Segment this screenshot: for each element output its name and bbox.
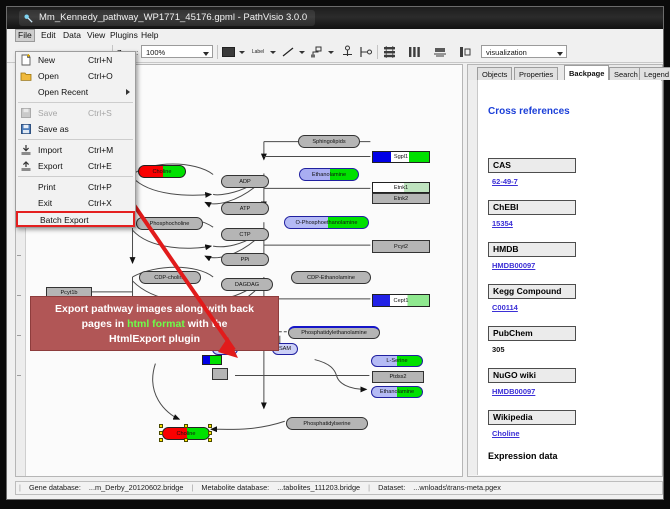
gene-ptdss2[interactable]: Ptdss2 [372,371,424,383]
export-icon [20,160,32,172]
chevron-down-icon[interactable] [270,51,276,54]
menu-item-print-label: Print [38,182,55,192]
file-menu-dropdown[interactable]: New Ctrl+N Open Ctrl+O Open Recent Save … [15,51,136,228]
node-ethanolamine-2[interactable]: Ethanolamine [371,386,423,398]
gene-cept1[interactable]: Cept1 [372,294,430,307]
node-ctp[interactable]: CTP [221,228,269,241]
xref-header-wikipedia: Wikipedia [488,410,576,425]
statusbar-sep: | [365,483,373,492]
zoom-combobox[interactable]: 100% [141,45,213,58]
menu-item-export-label: Export [38,161,63,171]
menu-item-open-label: Open [38,71,59,81]
window-title: Mm_Kennedy_pathway_WP1771_45176.gpml - P… [19,10,315,26]
expression-data-title: Expression data [488,451,558,461]
import-icon [20,144,32,156]
label-tool-button[interactable]: Label [249,47,267,57]
xref-value-wikipedia[interactable]: Choline [492,429,520,438]
menu-item-batch-export[interactable]: Batch Export [16,211,135,227]
selection-handle[interactable] [184,424,188,428]
gene-etnk1[interactable]: Etnk1 [372,182,430,193]
menu-item-import-label: Import [38,145,62,155]
node-phosphatidylethanolamine[interactable]: Phosphatidylethanolamine [288,326,380,339]
visualization-value: visualization [486,48,527,57]
save-disk-icon [20,107,32,119]
xref-value-hmdb[interactable]: HMDB00097 [492,261,535,270]
statusbar-sep: | [16,483,24,492]
chevron-down-icon [557,52,563,56]
menu-item-save-accel: Ctrl+S [88,108,112,118]
save-as-disk-icon [20,123,32,135]
window-titlebar: Mm_Kennedy_pathway_WP1771_45176.gpml - P… [7,7,663,29]
node-adp[interactable]: ADP [221,175,269,188]
node-o-phosphoethanolamine[interactable]: O-Phosphoethanolamine [284,216,369,229]
xref-header-nugo-wiki: NuGO wiki [488,368,576,383]
menu-item-new-accel: Ctrl+N [88,55,112,65]
selection-handle[interactable] [159,431,163,435]
xref-header-hmdb: HMDB [488,242,576,257]
pathway-anchor-box[interactable] [212,368,228,380]
side-dock: Objects Properties Backpage Search Legen… [467,64,663,477]
statusbar-metabolite-db-label: Metabolite database: [198,483,272,492]
tab-legend[interactable]: Legend [639,67,670,80]
xref-value-nugo-wiki[interactable]: HMDB00097 [492,387,535,396]
selection-handle[interactable] [159,438,163,442]
node-phosphatidylserine[interactable]: Phosphatidylserine [286,417,368,430]
interaction-tool-icon[interactable] [310,46,324,58]
menu-item-open[interactable]: Open Ctrl+O [16,68,135,84]
annotation-line-1: Export pathway images along with back [31,302,278,317]
node-phosphocholine[interactable]: Phosphocholine [136,217,203,230]
menu-edit[interactable]: Edit [38,30,59,41]
tab-search[interactable]: Search [609,67,643,80]
menu-item-new[interactable]: New Ctrl+N [16,52,135,68]
menu-item-print[interactable]: Print Ctrl+P [16,179,135,195]
menu-divider [18,176,133,177]
node-ethanolamine[interactable]: Ethanolamine [299,168,359,181]
submenu-arrow-icon [126,89,130,95]
xref-value-pubchem: 305 [492,345,505,354]
gene-sgpl1[interactable]: Sgpl1 [372,151,430,163]
menu-help[interactable]: Help [138,30,161,41]
statusbar-gene-db-label: Gene database: [26,483,84,492]
node-ppi[interactable]: PPi [221,253,269,266]
menu-item-exit-accel: Ctrl+X [88,198,112,208]
open-folder-icon [20,70,32,82]
new-document-icon [20,54,32,66]
menu-item-import-accel: Ctrl+M [88,145,113,155]
node-cdp-ethanolamine[interactable]: CDP-Ethanolamine [291,271,371,284]
menu-item-exit[interactable]: Exit Ctrl+X [16,195,135,211]
annotation-line-2: pages in html format with the [31,317,278,332]
menu-divider [18,139,133,140]
gene-pcyt2[interactable]: Pcyt2 [372,240,430,253]
xref-value-chebi[interactable]: 15354 [492,219,513,228]
menu-item-print-accel: Ctrl+P [88,182,112,192]
xref-value-kegg-compound[interactable]: C00114 [492,303,518,312]
menu-item-open-recent-label: Open Recent [38,87,88,97]
cross-references-title: Cross references [488,106,570,117]
annotation-line-2-post: with the [185,318,228,330]
selection-handle[interactable] [208,431,212,435]
statusbar-metabolite-db-value: ...tabolites_111203.bridge [274,483,363,492]
menubar: File Edit Data View Plugins Help [7,29,663,43]
xref-value-cas[interactable]: 62-49-7 [492,177,518,186]
chevron-down-icon [203,52,209,56]
ungroup-icon[interactable] [459,46,472,58]
anchor-tool-icon[interactable] [341,45,354,59]
xref-header-chebi: ChEBI [488,200,576,215]
menu-item-import[interactable]: Import Ctrl+M [16,142,135,158]
selection-handle[interactable] [208,438,212,442]
stack-columns-icon[interactable] [408,46,421,58]
statusbar: | Gene database: ...m_Derby_20120602.bri… [15,481,663,495]
application-window: Mm_Kennedy_pathway_WP1771_45176.gpml - P… [6,6,664,500]
menu-item-save: Save Ctrl+S [16,105,135,121]
pathvisio-app-icon [23,13,34,24]
line-tool-icon[interactable] [281,46,295,58]
group-icon[interactable] [433,46,447,58]
menu-item-exit-label: Exit [38,198,52,208]
selection-handle[interactable] [208,424,212,428]
node-dagdag[interactable]: DAGDAG [221,278,273,291]
menu-item-open-accel: Ctrl+O [88,71,113,81]
menu-data[interactable]: Data [60,30,84,41]
node-l-serine[interactable]: L-Serine [371,355,423,367]
menu-item-save-as[interactable]: Save as [16,121,135,137]
statusbar-sep: | [188,483,196,492]
selection-handle[interactable] [184,438,188,442]
tab-properties[interactable]: Properties [514,67,558,80]
node-cdp-choline[interactable]: CDP-choline [139,271,201,284]
node-atp[interactable]: ATP [221,202,269,215]
chevron-down-icon[interactable] [299,51,305,54]
selection-handle[interactable] [159,424,163,428]
window-title-text: Mm_Kennedy_pathway_WP1771_45176.gpml - P… [39,12,307,23]
statusbar-dataset-label: Dataset: [375,483,408,492]
screenshot-root: Mm_Kennedy_pathway_WP1771_45176.gpml - P… [0,0,670,509]
stack-rows-icon[interactable] [383,46,396,58]
annotation-callout: Export pathway images along with back pa… [30,296,279,351]
menu-plugins[interactable]: Plugins [107,30,141,41]
menu-file[interactable]: File [15,29,35,42]
statusbar-dataset-value: ...wnloads\trans-meta.pgex [410,483,504,492]
visualization-combobox[interactable]: visualization [481,45,567,58]
menu-divider [18,102,133,103]
node-choline-top[interactable]: Choline [138,165,186,178]
zoom-value: 100% [146,48,165,57]
menu-item-save-as-label: Save as [38,124,69,134]
tab-objects[interactable]: Objects [477,67,512,80]
node-sphingolipids[interactable]: Sphingolipids [298,135,360,148]
gene-etnk2[interactable]: Etnk2 [372,193,430,204]
chevron-down-icon[interactable] [239,51,245,54]
annotation-line-3: HtmlExport plugin [31,332,278,347]
menu-item-open-recent[interactable]: Open Recent [16,84,135,100]
chevron-down-icon[interactable] [328,51,334,54]
shape-tool-button[interactable] [222,47,235,57]
annotation-highlight: html format [127,318,185,330]
menu-item-new-label: New [38,55,55,65]
dock-tabstrip: Objects Properties Backpage Search Legen… [468,65,662,81]
xref-header-kegg-compound: Kegg Compound [488,284,576,299]
tab-backpage[interactable]: Backpage [564,65,609,81]
menu-view[interactable]: View [84,30,108,41]
backpage-content[interactable]: Cross references CAS 62-49-7 ChEBI 15354… [477,80,661,475]
state-tool-icon[interactable] [359,46,373,58]
menu-item-export[interactable]: Export Ctrl+E [16,158,135,174]
gene-small-split[interactable] [202,355,222,365]
xref-header-pubchem: PubChem [488,326,576,341]
annotation-line-2-pre: pages in [82,318,128,330]
statusbar-gene-db-value: ...m_Derby_20120602.bridge [86,483,187,492]
menu-item-export-accel: Ctrl+E [88,161,112,171]
menu-item-save-label: Save [38,108,57,118]
menu-item-batch-export-label: Batch Export [40,215,89,225]
xref-header-cas: CAS [488,158,576,173]
